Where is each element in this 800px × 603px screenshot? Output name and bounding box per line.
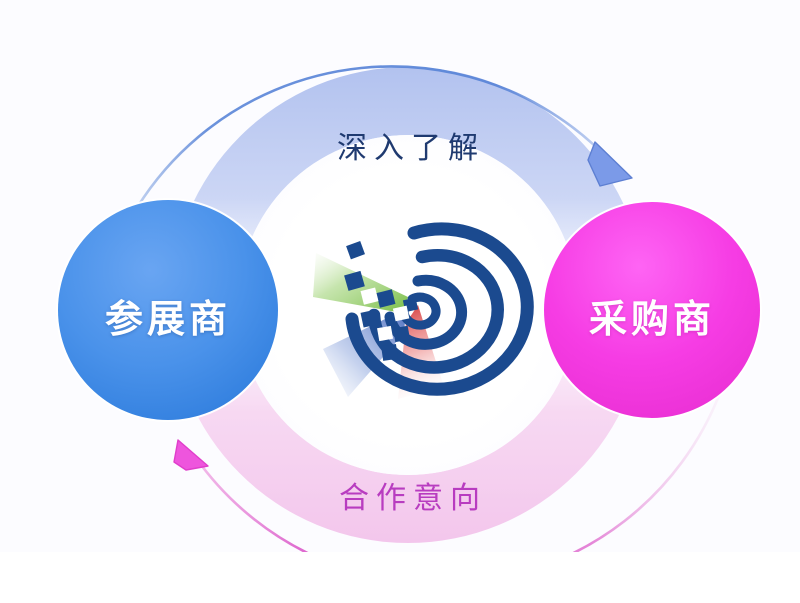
buyer-circle[interactable] — [544, 202, 760, 418]
diagram-canvas: 参展商 采购商 深入了解 合作意向 — [0, 0, 800, 603]
exhibitor-circle[interactable] — [58, 200, 278, 420]
node-exhibitor[interactable] — [56, 198, 280, 422]
cycle-diagram — [0, 0, 800, 603]
node-buyer[interactable] — [542, 200, 762, 420]
